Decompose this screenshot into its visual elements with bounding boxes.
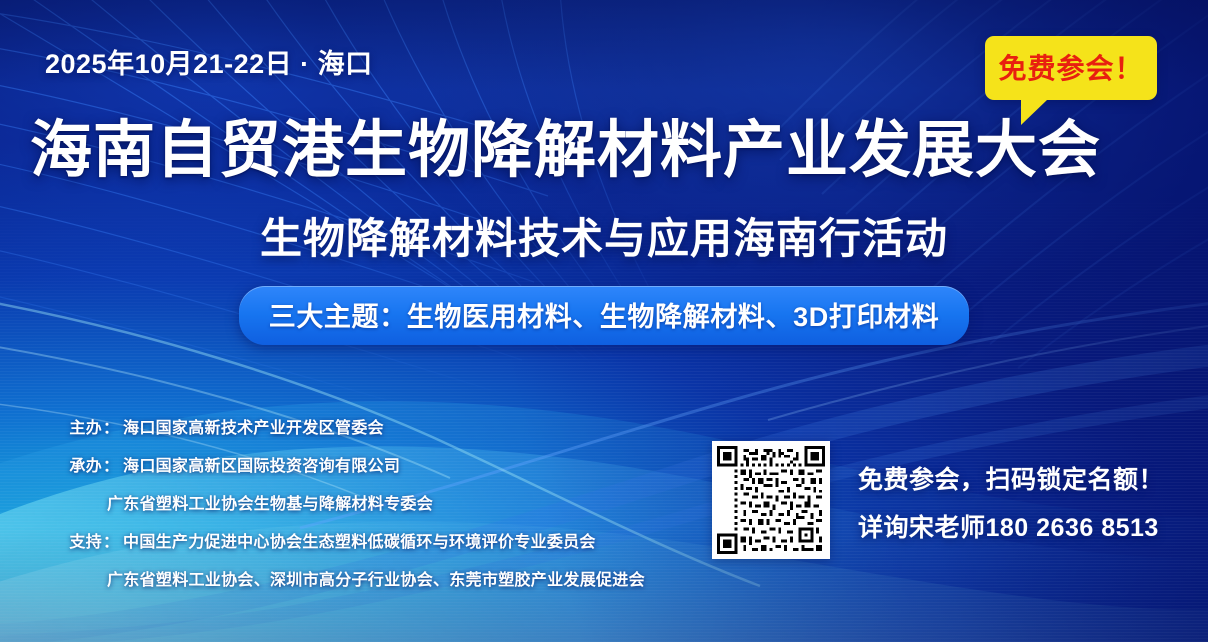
- organizer-row: 承办 ： 海口国家高新区国际投资咨询有限公司: [40, 452, 645, 476]
- qr-code[interactable]: [712, 441, 830, 559]
- organizer-label: 承办: [40, 452, 102, 476]
- event-date-location: 2025年10月21-22日 · 海口: [45, 42, 373, 81]
- contact-info: 免费参会，扫码锁定名额！ 详询宋老师180 2636 8513: [858, 460, 1164, 544]
- organizer-name: 中国生产力促进中心协会生态塑料低碳循环与环境评价专业委员会: [123, 528, 596, 552]
- organizer-name: 海口国家高新技术产业开发区管委会: [123, 414, 384, 438]
- organizer-label: 支持: [40, 528, 102, 552]
- organizer-colon: ：: [102, 452, 123, 476]
- event-subtitle: 生物降解材料技术与应用海南行活动: [0, 205, 1208, 266]
- speech-bubble-tail-icon: [1021, 100, 1081, 125]
- organizer-name: 海口国家高新区国际投资咨询有限公司: [123, 452, 400, 476]
- conference-banner: 2025年10月21-22日 · 海口 海南自贸港生物降解材料产业发展大会 生物…: [0, 0, 1208, 642]
- organizer-row: 广东省塑料工业协会、深圳市高分子行业协会、东莞市塑胶产业发展促进会: [40, 566, 645, 590]
- organizer-row: 广东省塑料工业协会生物基与降解材料专委会: [40, 490, 645, 514]
- organizer-label: 主办: [40, 414, 102, 438]
- organizer-row: 主办 ： 海口国家高新技术产业开发区管委会: [40, 414, 645, 438]
- contact-line-scan: 免费参会，扫码锁定名额！: [858, 460, 1164, 496]
- organizer-name: 广东省塑料工业协会生物基与降解材料专委会: [107, 490, 433, 514]
- themes-pill: 三大主题：生物医用材料、生物降解材料、3D打印材料: [239, 286, 970, 345]
- free-admission-badge-label: 免费参会！: [985, 36, 1157, 100]
- organizer-name: 广东省塑料工业协会、深圳市高分子行业协会、东莞市塑胶产业发展促进会: [107, 566, 645, 590]
- contact-line-phone: 详询宋老师180 2636 8513: [858, 508, 1164, 544]
- organizers-list: 主办 ： 海口国家高新技术产业开发区管委会 承办 ： 海口国家高新区国际投资咨询…: [40, 414, 645, 590]
- qr-code-icon: [717, 446, 825, 554]
- organizer-colon: ：: [102, 414, 123, 438]
- organizer-colon: ：: [102, 528, 123, 552]
- page-title: 海南自贸港生物降解材料产业发展大会: [30, 118, 1178, 183]
- free-admission-badge: 免费参会！: [985, 36, 1157, 100]
- organizer-row: 支持 ： 中国生产力促进中心协会生态塑料低碳循环与环境评价专业委员会: [40, 528, 645, 552]
- themes-banner: 三大主题：生物医用材料、生物降解材料、3D打印材料: [0, 286, 1208, 345]
